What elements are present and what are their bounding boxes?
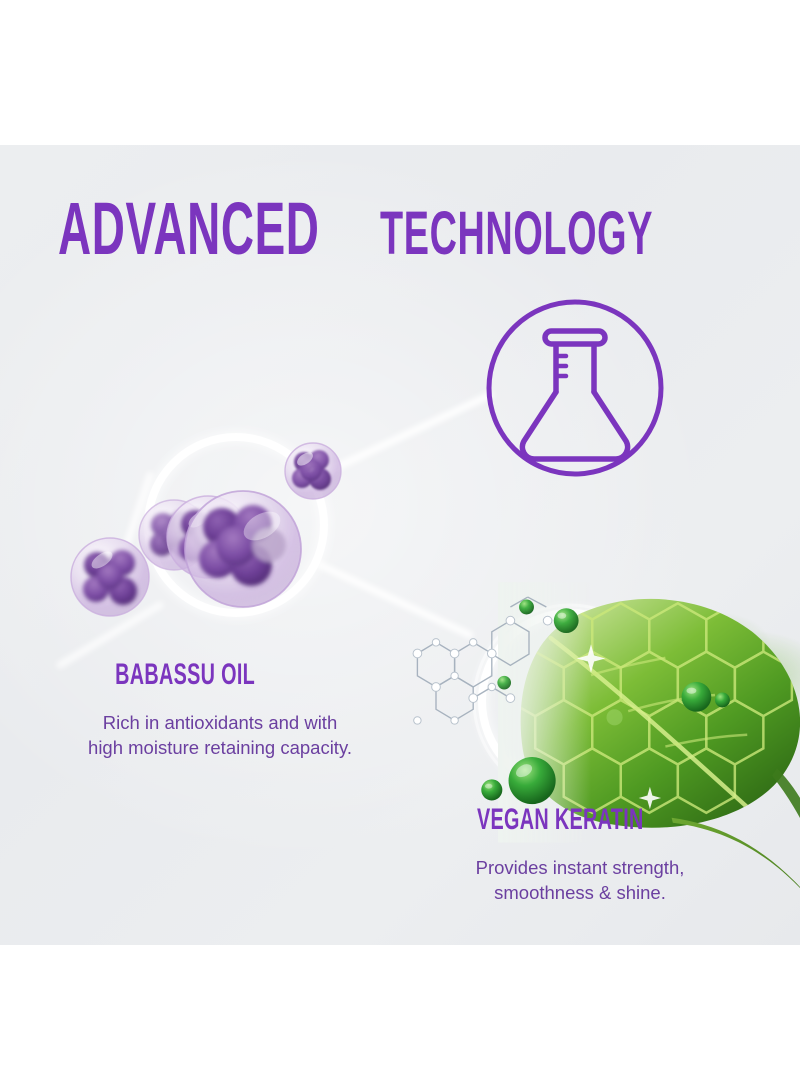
babassu-desc-line-1: Rich in antioxidants and with — [103, 712, 337, 733]
title-word-advanced: ADVANCED — [58, 192, 320, 266]
cell-bubble-bl — [71, 538, 149, 616]
vegan-keratin-description: Provides instant strength, smoothness & … — [420, 856, 740, 905]
vegan-keratin-label: VEGAN KERATIN — [477, 805, 644, 835]
flask-circle-outline — [489, 302, 661, 474]
flask-node — [489, 302, 661, 474]
babassu-oil-label: BABASSU OIL — [115, 660, 255, 690]
keratin-desc-line-2: smoothness & shine. — [494, 882, 666, 903]
keratin-desc-line-1: Provides instant strength, — [476, 857, 685, 878]
babassu-desc-line-2: high moisture retaining capacity. — [88, 737, 352, 758]
babassu-oil-description: Rich in antioxidants and with high moist… — [30, 711, 410, 760]
cell-bubble-small-tr — [285, 443, 341, 499]
title-word-technology: TECHNOLOGY — [380, 203, 653, 264]
cell-bubble-large — [185, 491, 301, 607]
flask-icon — [522, 331, 627, 459]
page-title: ADVANCEDTECHNOLOGY — [58, 192, 800, 266]
